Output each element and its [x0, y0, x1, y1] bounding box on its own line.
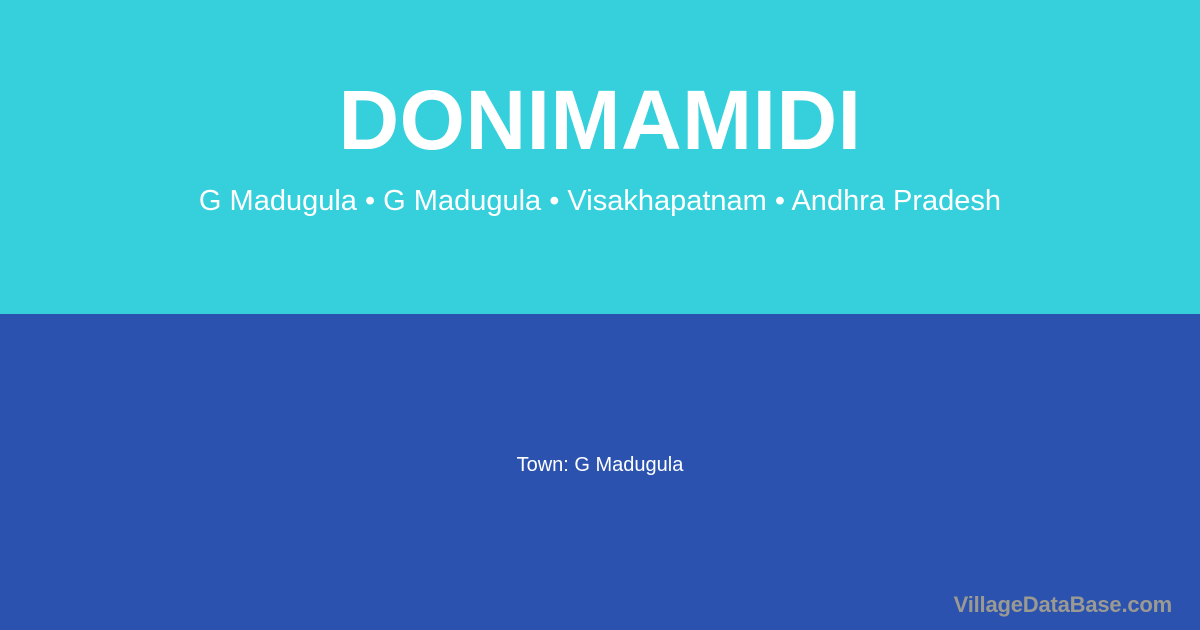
site-watermark: VillageDataBase.com: [954, 592, 1172, 618]
town-detail-line: Town: G Madugula: [517, 452, 684, 478]
village-info-card: DONIMAMIDI G Madugula • G Madugula • Vis…: [0, 0, 1200, 630]
details-content: Town: G Madugula: [0, 314, 1200, 630]
breadcrumb: G Madugula • G Madugula • Visakhapatnam …: [199, 186, 1001, 218]
hero-banner: DONIMAMIDI G Madugula • G Madugula • Vis…: [0, 0, 1200, 314]
details-panel: Town: G Madugula VillageDataBase.com: [0, 314, 1200, 630]
page-title: DONIMAMIDI: [339, 78, 862, 162]
